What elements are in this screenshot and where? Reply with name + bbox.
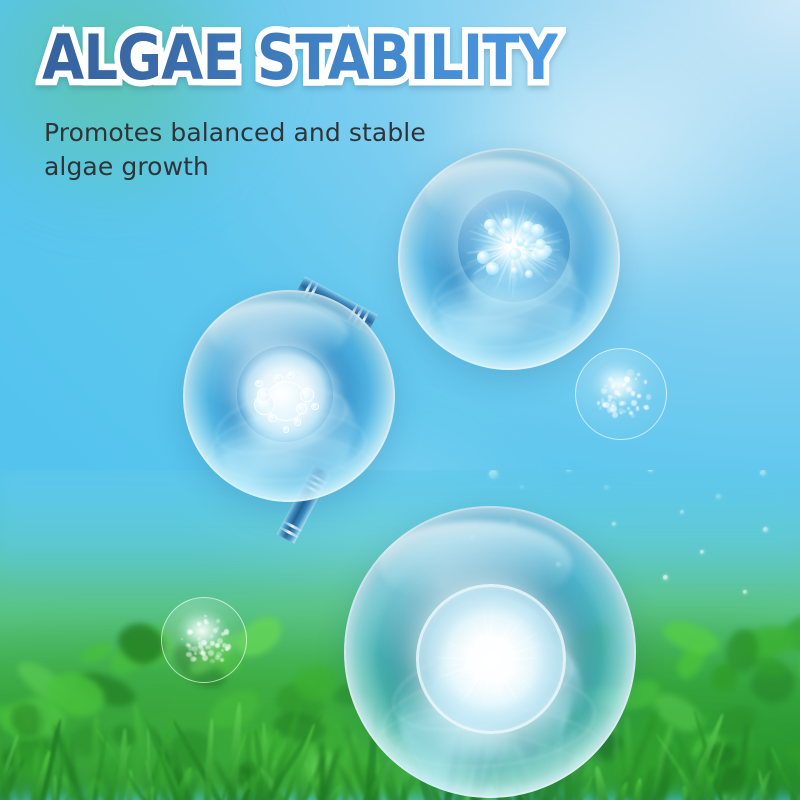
microbe-knob (502, 218, 513, 229)
inner-core-foam-bubbles (237, 346, 333, 442)
micro-speck (626, 387, 632, 393)
page-subtitle: Promotes balanced and stable algae growt… (44, 116, 426, 183)
foam-bubble (300, 388, 314, 402)
bubble-sphere-spiky-core (398, 148, 620, 370)
micro-speck (205, 646, 208, 649)
micro-speck (635, 378, 637, 380)
micro-speck (637, 373, 640, 376)
microbe-knob (521, 254, 529, 262)
inner-core-spiky-microbe (458, 190, 570, 302)
micro-speck (646, 394, 651, 399)
micro-speck (204, 615, 207, 618)
micro-speck (604, 385, 606, 387)
micro-speck (614, 396, 616, 398)
foam-bubble (283, 426, 290, 433)
micro-bubble-core (590, 360, 653, 428)
micro-speck (220, 658, 224, 662)
micro-speck (618, 408, 625, 415)
foam-bubble (268, 414, 277, 423)
micro-speck (221, 649, 225, 653)
micro-bubble-floating-microbe-bubble-right (575, 348, 667, 440)
foam-bubble (274, 374, 283, 383)
micro-speck (624, 376, 631, 383)
foam-bubble (296, 403, 307, 414)
micro-speck (210, 635, 213, 638)
microbe-knob (511, 267, 518, 274)
micro-speck (637, 394, 641, 398)
micro-speck (216, 619, 220, 623)
micro-speck (627, 407, 630, 410)
infographic-canvas: ALGAE STABILITY ALGAE STABILITY Promotes… (0, 0, 800, 800)
micro-bubble-floating-microbe-bubble-left (161, 597, 247, 683)
micro-speck (202, 655, 208, 661)
micro-speck (208, 650, 214, 656)
microbe-knob (486, 262, 499, 275)
micro-speck (631, 391, 636, 396)
microbe-knob (525, 270, 533, 278)
micro-speck (217, 627, 219, 629)
micro-speck (197, 637, 201, 641)
bubble-sphere-bright-core (344, 506, 636, 798)
micro-speck (197, 622, 201, 626)
micro-speck (207, 645, 211, 649)
micro-speck (629, 411, 633, 415)
microbe-knob (505, 236, 513, 244)
micro-speck (611, 404, 615, 408)
micro-speck (601, 400, 605, 404)
micro-speck (224, 629, 230, 635)
micro-speck (186, 652, 192, 658)
micro-speck (181, 638, 183, 640)
micro-bubble-core (175, 608, 234, 672)
core-rim (416, 584, 566, 734)
microbe-knob (488, 228, 496, 236)
micro-speck (631, 414, 635, 418)
page-title: ALGAE STABILITY (42, 27, 557, 89)
micro-speck (644, 405, 650, 411)
microbe-knob (531, 224, 543, 236)
foam-bubble (257, 388, 271, 402)
micro-speck (187, 629, 192, 634)
micro-speck (225, 647, 229, 651)
micro-speck (611, 381, 615, 385)
micro-speck (215, 643, 220, 648)
inner-core-radiant-white (416, 584, 566, 734)
foam-bubble (287, 372, 294, 379)
micro-speck (627, 369, 634, 376)
micro-speck (194, 652, 197, 655)
foam-bubble (255, 380, 263, 388)
micro-speck (612, 412, 618, 418)
micro-speck (601, 388, 607, 394)
bubble-sphere-foam-core (183, 290, 395, 502)
microbe-knob (509, 248, 521, 260)
micro-speck (623, 383, 626, 386)
micro-speck (644, 380, 647, 383)
micro-speck (210, 659, 214, 663)
foam-bubble (294, 418, 302, 426)
micro-speck (597, 401, 600, 404)
foam-bubble (311, 403, 319, 411)
microbe-knob (477, 251, 490, 264)
micro-speck (636, 408, 639, 411)
micro-speck (204, 621, 207, 624)
micro-speck (619, 401, 624, 406)
